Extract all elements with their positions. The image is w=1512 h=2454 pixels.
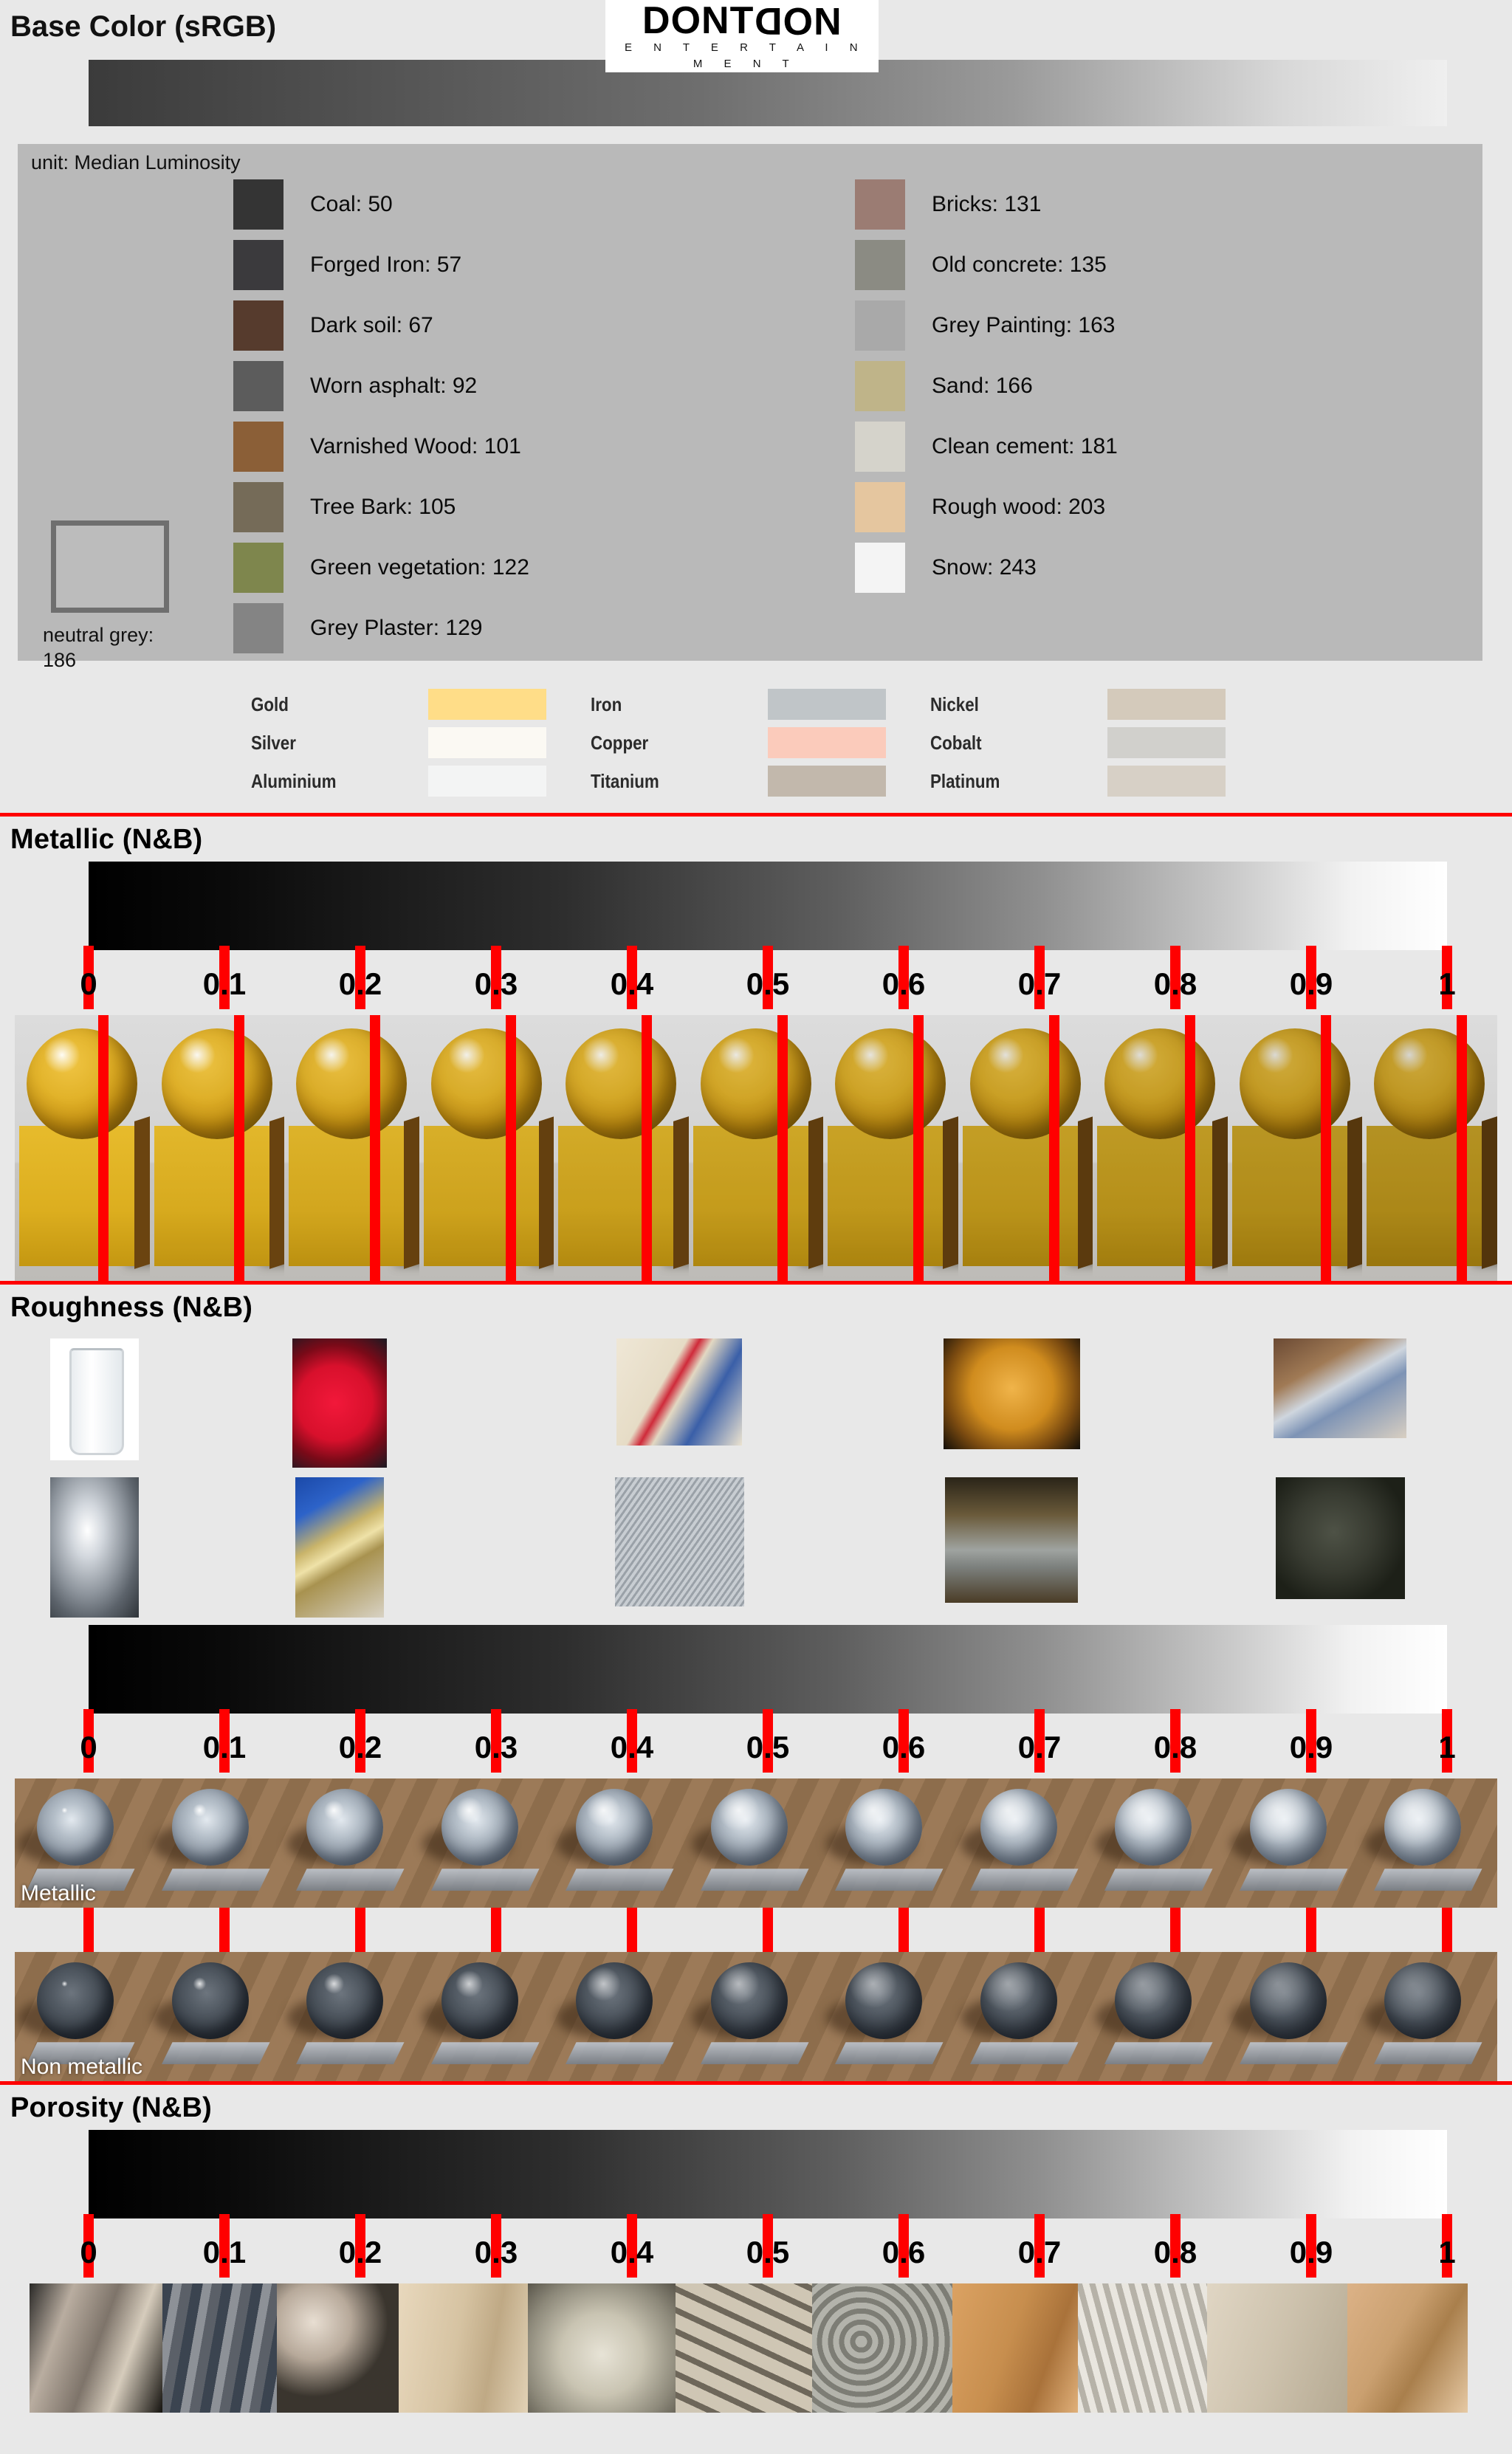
legend-swatch: [855, 179, 905, 230]
section-porosity: Porosity (N&B) 00.10.20.30.40.50.60.70.8…: [0, 2081, 1512, 2413]
metallic-cube: [1097, 1126, 1214, 1266]
scale-tick: [1170, 1908, 1181, 1952]
scale-tick: [898, 1908, 909, 1952]
scale-tick-label: 0.6: [882, 2235, 925, 2270]
legend-swatch: [233, 482, 283, 532]
metallic-cube: [558, 1126, 675, 1266]
legend-swatch: [855, 422, 905, 472]
roughness-nonmetallic-sample: [1093, 1952, 1228, 2081]
roughness-nonmetallic-sample: [1362, 1952, 1497, 2081]
scale-tick-label: 0.2: [339, 966, 382, 1002]
legend-label: Clean cement: 181: [932, 434, 1118, 459]
metal-row: Nickel: [930, 686, 1255, 723]
sample-sphere: [306, 1789, 383, 1866]
legend-item: Bricks: 131: [855, 175, 1118, 234]
metallic-sample-cell: [284, 1015, 419, 1281]
metal-column: IronCopperTitanium: [591, 686, 915, 801]
metallic-sphere: [162, 1028, 272, 1139]
sample-plate: [431, 2042, 540, 2064]
drinking-glass-photo: [50, 1338, 139, 1460]
legend-label: Rough wood: 203: [932, 495, 1105, 520]
metallic-sphere: [970, 1028, 1081, 1139]
roughness-nonmetallic-sample: [958, 1952, 1093, 2081]
sample-plate: [835, 1869, 944, 1891]
roughness-nonmetallic-sample: [150, 1952, 285, 2081]
legend-swatch: [855, 361, 905, 411]
logo-subtitle: E N T E R T A I N M E N T: [605, 40, 879, 72]
metallic-cube: [1232, 1126, 1349, 1266]
legend-item: Green vegetation: 122: [233, 538, 529, 597]
scale-tick-label: 0: [80, 966, 97, 1002]
neutral-grey-swatch: [51, 520, 169, 613]
legend-item: Tree Bark: 105: [233, 478, 529, 537]
unit-label: unit: Median Luminosity: [31, 151, 241, 174]
metal-name: Copper: [591, 732, 743, 755]
sample-sphere: [172, 1789, 249, 1866]
sample-plate: [296, 2042, 405, 2064]
sample-sphere: [845, 1789, 922, 1866]
chrome-gazing-ball-photo: [50, 1477, 139, 1618]
metallic-sphere: [296, 1028, 407, 1139]
wet-clay-pottery-photo: [528, 2283, 676, 2413]
scale-tick-label: 0.7: [1018, 966, 1061, 1002]
red-ribbon-bow-photo: [292, 1338, 387, 1468]
metal-row: Aluminium: [251, 763, 576, 800]
legend-column-left: Coal: 50Forged Iron: 57Dark soil: 67Worn…: [233, 175, 529, 659]
metal-column: GoldSilverAluminium: [251, 686, 576, 801]
roughness-row-metallic: Metallic: [15, 1778, 1497, 1908]
metallic-sample-cell: [419, 1015, 554, 1281]
legend-item: Rough wood: 203: [855, 478, 1118, 537]
metal-row: Silver: [251, 724, 576, 761]
legend-item: Clean cement: 181: [855, 417, 1118, 476]
legend-swatch: [855, 543, 905, 593]
scale-tick-label: 0: [80, 1730, 97, 1765]
metallic-sample-cell: [1228, 1015, 1363, 1281]
porosity-gradient-ramp: [89, 2130, 1447, 2218]
roughness-metallic-sample: [1093, 1778, 1228, 1908]
metallic-sample-cell: [689, 1015, 824, 1281]
metal-swatch: [428, 727, 546, 758]
legend-item: Old concrete: 135: [855, 236, 1118, 295]
metallic-cube: [828, 1126, 944, 1266]
scale-tick-label: 0.5: [746, 966, 789, 1002]
scale-tick: [1034, 1908, 1045, 1952]
metallic-sphere: [835, 1028, 946, 1139]
metallic-sample-cell: [823, 1015, 958, 1281]
sample-sphere: [306, 1962, 383, 2039]
porosity-scale: 00.10.20.30.40.50.60.70.80.91: [89, 2218, 1447, 2283]
section-metallic: Metallic (N&B) 00.10.20.30.40.50.60.70.8…: [0, 813, 1512, 1281]
row-label-nonmetallic: Non metallic: [21, 2055, 142, 2080]
roughness-metallic-sample: [419, 1778, 554, 1908]
metallic-sphere: [1104, 1028, 1215, 1139]
metal-name: Platinum: [930, 770, 1082, 793]
scale-tick: [763, 1908, 773, 1952]
scale-tick-label: 0.7: [1018, 1730, 1061, 1765]
metallic-sphere: [27, 1028, 137, 1139]
metallic-cube: [19, 1126, 136, 1266]
scale-tick: [355, 1908, 365, 1952]
metallic-sample-cell: [1093, 1015, 1228, 1281]
legend-column-right: Bricks: 131Old concrete: 135Grey Paintin…: [855, 175, 1118, 599]
roughness-reference-photos: [0, 1330, 1512, 1625]
scale-tick-label: 0.6: [882, 1730, 925, 1765]
metal-swatch: [1107, 766, 1226, 797]
legend-item: Grey Plaster: 129: [233, 599, 529, 658]
metal-name: Cobalt: [930, 732, 1082, 755]
roughness-nonmetallic-sample: [1228, 1952, 1363, 2081]
scale-tick: [1306, 1908, 1316, 1952]
section-base-color: Base Color (sRGB) unit: Median Luminosit…: [0, 0, 1512, 813]
sample-plate: [296, 1869, 405, 1891]
limestone-block-photo: [399, 2283, 528, 2413]
metallic-cube: [693, 1126, 810, 1266]
roughness-metallic-sample: [958, 1778, 1093, 1908]
metallic-cube: [154, 1126, 271, 1266]
sandstone-photo: [952, 2283, 1078, 2413]
metal-swatch: [1107, 727, 1226, 758]
roughness-metallic-sample: [554, 1778, 689, 1908]
scale-tick-label: 0.4: [611, 2235, 653, 2270]
row-label-metallic: Metallic: [21, 1881, 96, 1906]
section-title-roughness: Roughness (N&B): [0, 1285, 1512, 1330]
roughness-row-gap: [0, 1908, 1512, 1952]
metal-row: Titanium: [591, 763, 915, 800]
metallic-cube: [424, 1126, 540, 1266]
scale-tick: [219, 1908, 230, 1952]
legend-item: Forged Iron: 57: [233, 236, 529, 295]
legend-swatch: [233, 543, 283, 593]
sample-sphere: [441, 1962, 518, 2039]
scale-tick-label: 0.4: [611, 966, 653, 1002]
scale-tick-label: 0.5: [746, 2235, 789, 2270]
legend-item: Worn asphalt: 92: [233, 357, 529, 416]
legend-swatch: [233, 603, 283, 653]
sample-plate: [835, 2042, 944, 2064]
amber-glass-bottle-photo: [944, 1338, 1080, 1449]
roughness-nonmetallic-sample: [823, 1952, 958, 2081]
plastic-phone-case-photo: [1274, 1338, 1406, 1438]
section-title-metallic: Metallic (N&B): [0, 817, 1512, 862]
granite-speckle-photo: [277, 2283, 399, 2413]
legend-label: Tree Bark: 105: [310, 495, 456, 520]
sample-plate: [1104, 1869, 1213, 1891]
metal-swatch: [1107, 689, 1226, 720]
metal-row: Platinum: [930, 763, 1255, 800]
roughness-gap-tick-overlay: [89, 1908, 1447, 1952]
base-color-legend-panel: unit: Median Luminosity neutral grey: 18…: [18, 144, 1482, 661]
legend-item: Dark soil: 67: [233, 296, 529, 355]
scale-tick-label: 1: [1438, 1730, 1455, 1765]
porosity-photo-strip: [15, 2283, 1497, 2413]
sample-plate: [1374, 2042, 1482, 2064]
sample-sphere: [980, 1962, 1057, 2039]
scale-tick-label: 0.2: [339, 1730, 382, 1765]
scale-tick-label: 0.9: [1290, 1730, 1333, 1765]
dry-cracked-mud-photo: [676, 2283, 812, 2413]
sample-sphere: [441, 1789, 518, 1866]
legend-swatch: [233, 240, 283, 290]
sample-sphere: [711, 1789, 788, 1866]
sample-sphere: [1115, 1962, 1192, 2039]
metal-name: Nickel: [930, 693, 1082, 716]
logo-wordmark: DONTNOD: [605, 1, 879, 40]
metal-row: Gold: [251, 686, 576, 723]
legend-swatch: [855, 300, 905, 351]
metallic-sphere: [701, 1028, 811, 1139]
metal-row: Cobalt: [930, 724, 1255, 761]
legend-label: Worn asphalt: 92: [310, 374, 477, 399]
legend-item: Grey Painting: 163: [855, 296, 1118, 355]
legend-item: Snow: 243: [855, 538, 1118, 597]
scale-tick-label: 0.8: [1154, 2235, 1197, 2270]
legend-label: Varnished Wood: 101: [310, 434, 521, 459]
sample-plate: [970, 2042, 1079, 2064]
metallic-cube: [1367, 1126, 1483, 1266]
scale-tick-label: 0: [80, 2235, 97, 2270]
sample-plate: [566, 1869, 674, 1891]
metallic-gradient-ramp: [89, 862, 1447, 950]
metallic-sample-cell: [150, 1015, 285, 1281]
tarnished-coins-photo: [1276, 1477, 1405, 1599]
sample-sphere: [711, 1962, 788, 2039]
sample-plate: [701, 2042, 809, 2064]
roughness-metallic-sample: [150, 1778, 285, 1908]
scale-tick: [83, 1908, 94, 1952]
legend-label: Forged Iron: 57: [310, 252, 461, 278]
legend-swatch: [233, 300, 283, 351]
roughness-nonmetallic-sample: [554, 1952, 689, 2081]
scale-tick-label: 1: [1438, 966, 1455, 1002]
metal-name: Aluminium: [251, 770, 403, 793]
roughness-nonmetallic-sample: [284, 1952, 419, 2081]
metallic-sphere: [1240, 1028, 1350, 1139]
legend-swatch: [233, 361, 283, 411]
metallic-render-strip: [15, 1015, 1497, 1281]
metallic-cube: [289, 1126, 405, 1266]
metal-name: Gold: [251, 693, 403, 716]
roughness-nonmetallic-sample: [689, 1952, 824, 2081]
legend-item: Sand: 166: [855, 357, 1118, 416]
scale-tick-label: 0.3: [475, 1730, 518, 1765]
metallic-sample-cell: [1362, 1015, 1497, 1281]
scale-tick: [491, 1908, 501, 1952]
legend-label: Coal: 50: [310, 192, 393, 217]
scale-tick-label: 0.1: [203, 966, 246, 1002]
sample-sphere: [1250, 1962, 1327, 2039]
legend-label: Dark soil: 67: [310, 313, 433, 338]
scale-tick-label: 0.4: [611, 1730, 653, 1765]
legend-item: Coal: 50: [233, 175, 529, 234]
sample-plate: [162, 1869, 270, 1891]
metallic-sphere: [431, 1028, 542, 1139]
snow-drift-photo: [1078, 2283, 1207, 2413]
metal-row: Copper: [591, 724, 915, 761]
legend-swatch: [855, 240, 905, 290]
metal-reference-table: GoldSilverAluminiumIronCopperTitaniumNic…: [0, 673, 1512, 813]
sample-plate: [970, 1869, 1079, 1891]
neutral-grey-value: 186: [43, 649, 76, 671]
metal-row: Iron: [591, 686, 915, 723]
legend-label: Sand: 166: [932, 374, 1033, 399]
sample-sphere: [1384, 1789, 1461, 1866]
red-pens-on-paper-photo: [616, 1338, 742, 1446]
legend-label: Grey Painting: 163: [932, 313, 1115, 338]
gravel-pebbles-photo: [812, 2283, 952, 2413]
perforated-steel-drum-photo: [615, 1477, 744, 1606]
legend-item: Varnished Wood: 101: [233, 417, 529, 476]
sample-sphere: [576, 1789, 653, 1866]
scale-tick-label: 0.9: [1290, 2235, 1333, 2270]
sample-plate: [431, 1869, 540, 1891]
sample-sphere: [845, 1962, 922, 2039]
sample-plate: [1240, 1869, 1348, 1891]
roughness-metallic-sample: [689, 1778, 824, 1908]
dontnod-logo: DONTNOD E N T E R T A I N M E N T: [605, 0, 879, 72]
raw-wood-box-photo: [1347, 2283, 1468, 2413]
scale-tick-label: 1: [1438, 2235, 1455, 2270]
legend-swatch: [233, 422, 283, 472]
roughness-metallic-sample: [823, 1778, 958, 1908]
legend-label: Snow: 243: [932, 555, 1037, 580]
metallic-sample-cell: [554, 1015, 689, 1281]
roughness-gradient-ramp: [89, 1625, 1447, 1714]
sample-plate: [162, 2042, 270, 2064]
metallic-sphere: [1374, 1028, 1485, 1139]
legend-label: Bricks: 131: [932, 192, 1041, 217]
metal-name: Silver: [251, 732, 403, 755]
scale-tick-label: 0.3: [475, 966, 518, 1002]
sample-plate: [1374, 1869, 1482, 1891]
sample-sphere: [1384, 1962, 1461, 2039]
section-title-porosity: Porosity (N&B): [0, 2085, 1512, 2130]
sample-sphere: [980, 1789, 1057, 1866]
sample-sphere: [37, 1789, 114, 1866]
metal-column: NickelCobaltPlatinum: [930, 686, 1255, 801]
metal-swatch: [428, 766, 546, 797]
sample-sphere: [576, 1962, 653, 2039]
legend-swatch: [233, 179, 283, 230]
metallic-sphere-cube-row: [15, 1015, 1497, 1281]
metallic-sample-cell: [958, 1015, 1093, 1281]
scale-tick-label: 0.1: [203, 2235, 246, 2270]
metal-swatch: [428, 689, 546, 720]
legend-label: Green vegetation: 122: [310, 555, 529, 580]
metal-swatch: [768, 689, 886, 720]
scale-tick-label: 0.3: [475, 2235, 518, 2270]
dry-sand-photo: [1207, 2283, 1347, 2413]
sample-plate: [566, 2042, 674, 2064]
scale-tick-label: 0.2: [339, 2235, 382, 2270]
metal-name: Iron: [591, 693, 743, 716]
metal-swatch: [768, 727, 886, 758]
metallic-scale: 00.10.20.30.40.50.60.70.80.91: [89, 950, 1447, 1015]
scale-tick: [1442, 1908, 1452, 1952]
roughness-metallic-sample: [1228, 1778, 1363, 1908]
legend-swatch: [855, 482, 905, 532]
roughness-metallic-sample: [1362, 1778, 1497, 1908]
scale-tick-label: 0.7: [1018, 2235, 1061, 2270]
sample-plate: [1104, 2042, 1213, 2064]
legend-label: Grey Plaster: 129: [310, 616, 482, 641]
cracked-stone-photo: [30, 2283, 162, 2413]
scale-tick-label: 0.1: [203, 1730, 246, 1765]
metallic-sample-cell: [15, 1015, 150, 1281]
roughness-metallic-sample: [284, 1778, 419, 1908]
metal-name: Titanium: [591, 770, 743, 793]
sample-plate: [701, 1869, 809, 1891]
legend-label: Old concrete: 135: [932, 252, 1107, 278]
roughness-row-nonmetallic: Non metallic: [15, 1952, 1497, 2081]
scale-tick: [627, 1908, 637, 1952]
scale-tick-label: 0.9: [1290, 966, 1333, 1002]
roughness-nonmetallic-sample: [419, 1952, 554, 2081]
roughness-scale: 00.10.20.30.40.50.60.70.80.91: [89, 1714, 1447, 1778]
weathered-metal-pot-photo: [945, 1477, 1078, 1603]
brushed-metal-pen-cone-photo: [295, 1477, 384, 1618]
section-roughness: Roughness (N&B) 00.10.20.30.40.50.60.70.…: [0, 1281, 1512, 2081]
sample-sphere: [172, 1962, 249, 2039]
sample-sphere: [37, 1962, 114, 2039]
scale-tick-label: 0.6: [882, 966, 925, 1002]
scale-tick-label: 0.8: [1154, 1730, 1197, 1765]
metallic-cube: [963, 1126, 1079, 1266]
sample-sphere: [1250, 1789, 1327, 1866]
stacked-slate-photo: [162, 2283, 277, 2413]
scale-tick-label: 0.5: [746, 1730, 789, 1765]
sample-sphere: [1115, 1789, 1192, 1866]
metallic-sphere: [566, 1028, 676, 1139]
sample-plate: [1240, 2042, 1348, 2064]
scale-tick-label: 0.8: [1154, 966, 1197, 1002]
metal-swatch: [768, 766, 886, 797]
neutral-grey-label: neutral grey: 186: [43, 622, 198, 673]
